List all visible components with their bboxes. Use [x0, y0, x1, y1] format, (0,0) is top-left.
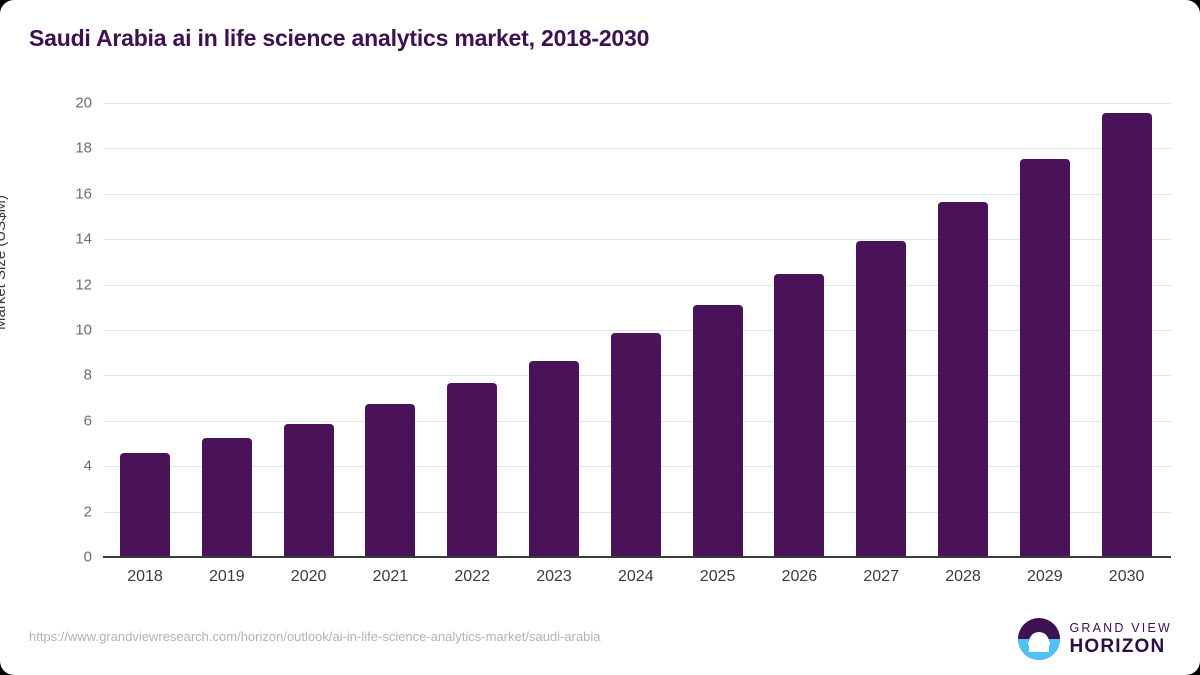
source-url[interactable]: https://www.grandviewresearch.com/horizo…	[29, 629, 601, 644]
x-axis-tick-label: 2019	[182, 568, 272, 586]
horizon-sunrise-icon	[1018, 618, 1060, 660]
logo-ray-bar-upper	[1028, 642, 1050, 645]
bar-2028[interactable]	[938, 202, 988, 557]
logo-line-1: GRAND VIEW	[1069, 622, 1172, 635]
x-axis-tick-label: 2029	[1000, 568, 1090, 586]
bar-2023[interactable]	[529, 361, 579, 557]
x-axis-tick-label: 2027	[836, 568, 926, 586]
x-axis-tick-label: 2022	[427, 568, 517, 586]
y-axis-tick-label: 8	[40, 367, 92, 384]
page-title: Saudi Arabia ai in life science analytic…	[29, 25, 649, 52]
grand-view-horizon-logo: GRAND VIEW HORIZON	[1018, 618, 1172, 660]
bar-2025[interactable]	[693, 305, 743, 557]
y-axis-tick-label: 20	[40, 95, 92, 112]
bar-2021[interactable]	[365, 404, 415, 557]
y-axis-title: Market Size (US$M)	[0, 195, 9, 330]
bar-2020[interactable]	[284, 424, 334, 557]
x-axis-tick-label: 2030	[1082, 568, 1172, 586]
plot-area	[103, 103, 1171, 557]
x-axis-line	[103, 556, 1171, 558]
bar-2022[interactable]	[447, 383, 497, 557]
y-axis-tick-label: 2	[40, 503, 92, 520]
bar-2030[interactable]	[1102, 113, 1152, 557]
logo-line-2: HORIZON	[1069, 637, 1172, 656]
bar-2019[interactable]	[202, 438, 252, 557]
y-axis-tick-label: 16	[40, 185, 92, 202]
y-axis-tick-label: 0	[40, 549, 92, 566]
bar-series	[103, 103, 1171, 557]
x-axis-tick-label: 2021	[345, 568, 435, 586]
x-axis-tick-label: 2028	[918, 568, 1008, 586]
x-axis-tick-label: 2026	[754, 568, 844, 586]
y-axis-tick-label: 12	[40, 276, 92, 293]
x-axis-tick-label: 2018	[100, 568, 190, 586]
bar-2018[interactable]	[120, 453, 170, 557]
bar-2029[interactable]	[1020, 159, 1070, 557]
x-axis-tick-label: 2020	[264, 568, 354, 586]
logo-wordmark: GRAND VIEW HORIZON	[1069, 622, 1172, 657]
chart-page: Saudi Arabia ai in life science analytic…	[0, 0, 1200, 675]
y-axis-tick-label: 4	[40, 458, 92, 475]
y-axis-tick-label: 18	[40, 140, 92, 157]
bar-2026[interactable]	[774, 274, 824, 557]
logo-ray-bar-lower	[1032, 647, 1047, 650]
y-axis-tick-label: 10	[40, 322, 92, 339]
x-axis-tick-label: 2024	[591, 568, 681, 586]
y-axis-tick-label: 6	[40, 412, 92, 429]
bar-2027[interactable]	[856, 241, 906, 557]
bar-2024[interactable]	[611, 333, 661, 557]
x-axis-tick-label: 2023	[509, 568, 599, 586]
y-axis-tick-label: 14	[40, 231, 92, 248]
x-axis-tick-label: 2025	[673, 568, 763, 586]
